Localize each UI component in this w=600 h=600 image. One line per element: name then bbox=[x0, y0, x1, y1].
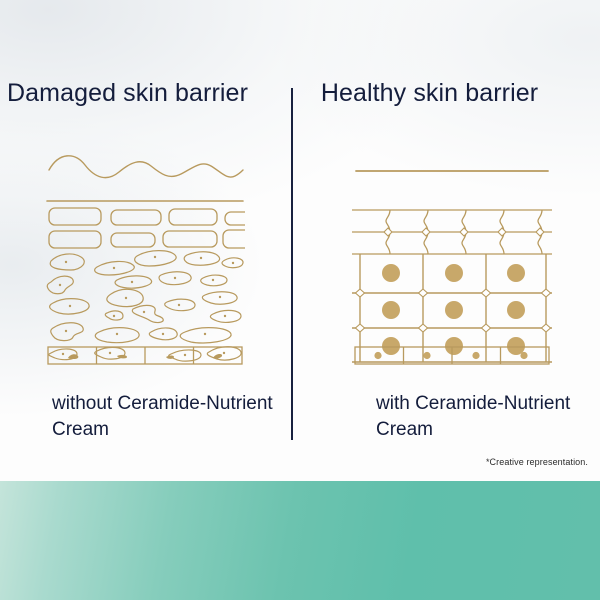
irregular-cell-nuclei bbox=[59, 256, 234, 356]
brick-row-2 bbox=[49, 230, 245, 248]
caption-damaged: without Ceramide-Nutrient Cream bbox=[52, 391, 282, 443]
damaged-basal-svg bbox=[45, 345, 245, 367]
teal-footer-band bbox=[0, 481, 600, 600]
heading-healthy: Healthy skin barrier bbox=[293, 78, 600, 109]
tight-brick-rows bbox=[352, 210, 552, 254]
healthy-basal-svg bbox=[352, 345, 552, 367]
healthy-basal-row bbox=[352, 345, 552, 367]
caption-healthy: with Ceramide-Nutrient Cream bbox=[376, 391, 596, 443]
wavy-surface-line bbox=[49, 156, 243, 178]
panel-healthy: Healthy skin barrier bbox=[293, 0, 600, 481]
healthy-skin-barrier-diagram bbox=[352, 148, 552, 366]
damaged-skin-barrier-diagram bbox=[45, 148, 245, 366]
damaged-basal-row bbox=[45, 345, 245, 367]
brick-row-1 bbox=[49, 208, 245, 225]
panel-damaged: Damaged skin barrier bbox=[0, 0, 291, 481]
promo-graphic: Damaged skin barrier bbox=[0, 0, 600, 600]
healthy-skin-svg bbox=[352, 148, 552, 366]
footnote-creative-representation: *Creative representation. bbox=[486, 457, 588, 467]
heading-damaged: Damaged skin barrier bbox=[0, 78, 291, 109]
cell-nuclei bbox=[382, 264, 525, 355]
damaged-skin-svg bbox=[45, 148, 245, 366]
